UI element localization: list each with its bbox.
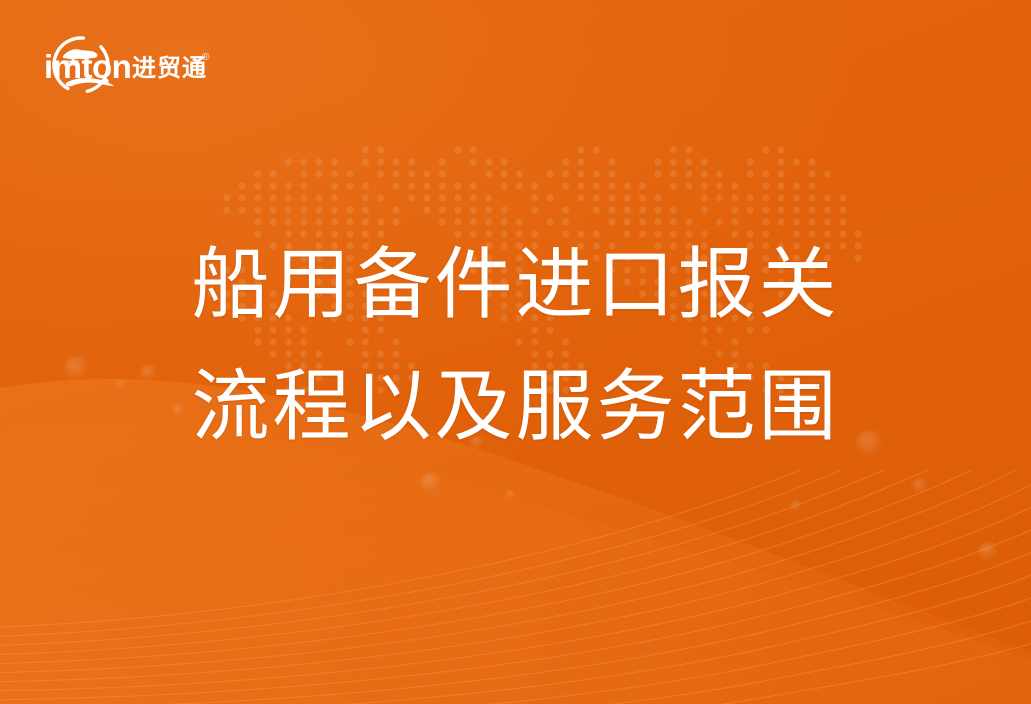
logo-chinese-name: 进贸通 [132, 54, 207, 82]
banner-slide: imton 进贸通 ® 船用备件进口报关 流程以及服务范围 [0, 0, 1031, 704]
logo-wordmark: imton [44, 48, 131, 85]
background-gradient [0, 0, 1031, 704]
logo-trademark-symbol: ® [202, 52, 210, 63]
brand-logo[interactable]: imton 进贸通 ® [36, 26, 216, 104]
